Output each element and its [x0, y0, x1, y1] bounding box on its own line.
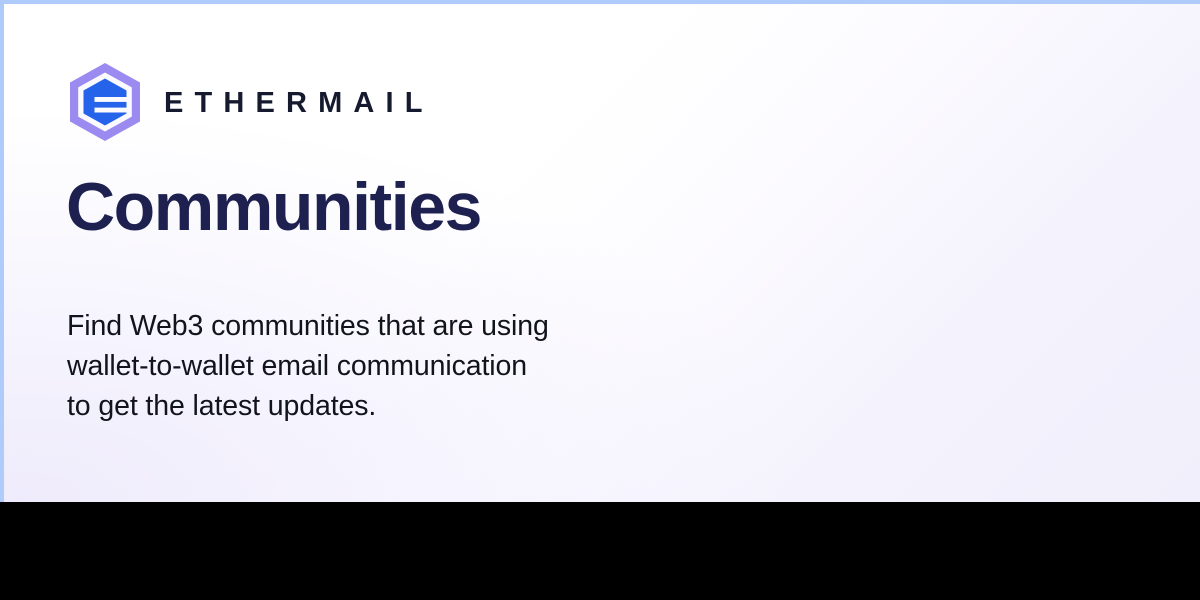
- description-line: wallet-to-wallet email communication: [67, 346, 549, 386]
- brand-wordmark: ETHERMAIL: [164, 87, 434, 118]
- hero-description: Find Web3 communities that are using wal…: [67, 306, 549, 426]
- hero-card: ETHERMAIL Communities Find Web3 communit…: [0, 0, 1200, 502]
- page-canvas: ETHERMAIL Communities Find Web3 communit…: [0, 0, 1200, 600]
- page-title: Communities: [66, 172, 481, 243]
- bottom-black-band: [0, 502, 1200, 600]
- brand-lockup[interactable]: ETHERMAIL: [64, 60, 434, 144]
- description-line: Find Web3 communities that are using: [67, 306, 549, 346]
- ethermail-hexagon-e-icon: [64, 60, 146, 144]
- description-line: to get the latest updates.: [67, 386, 549, 426]
